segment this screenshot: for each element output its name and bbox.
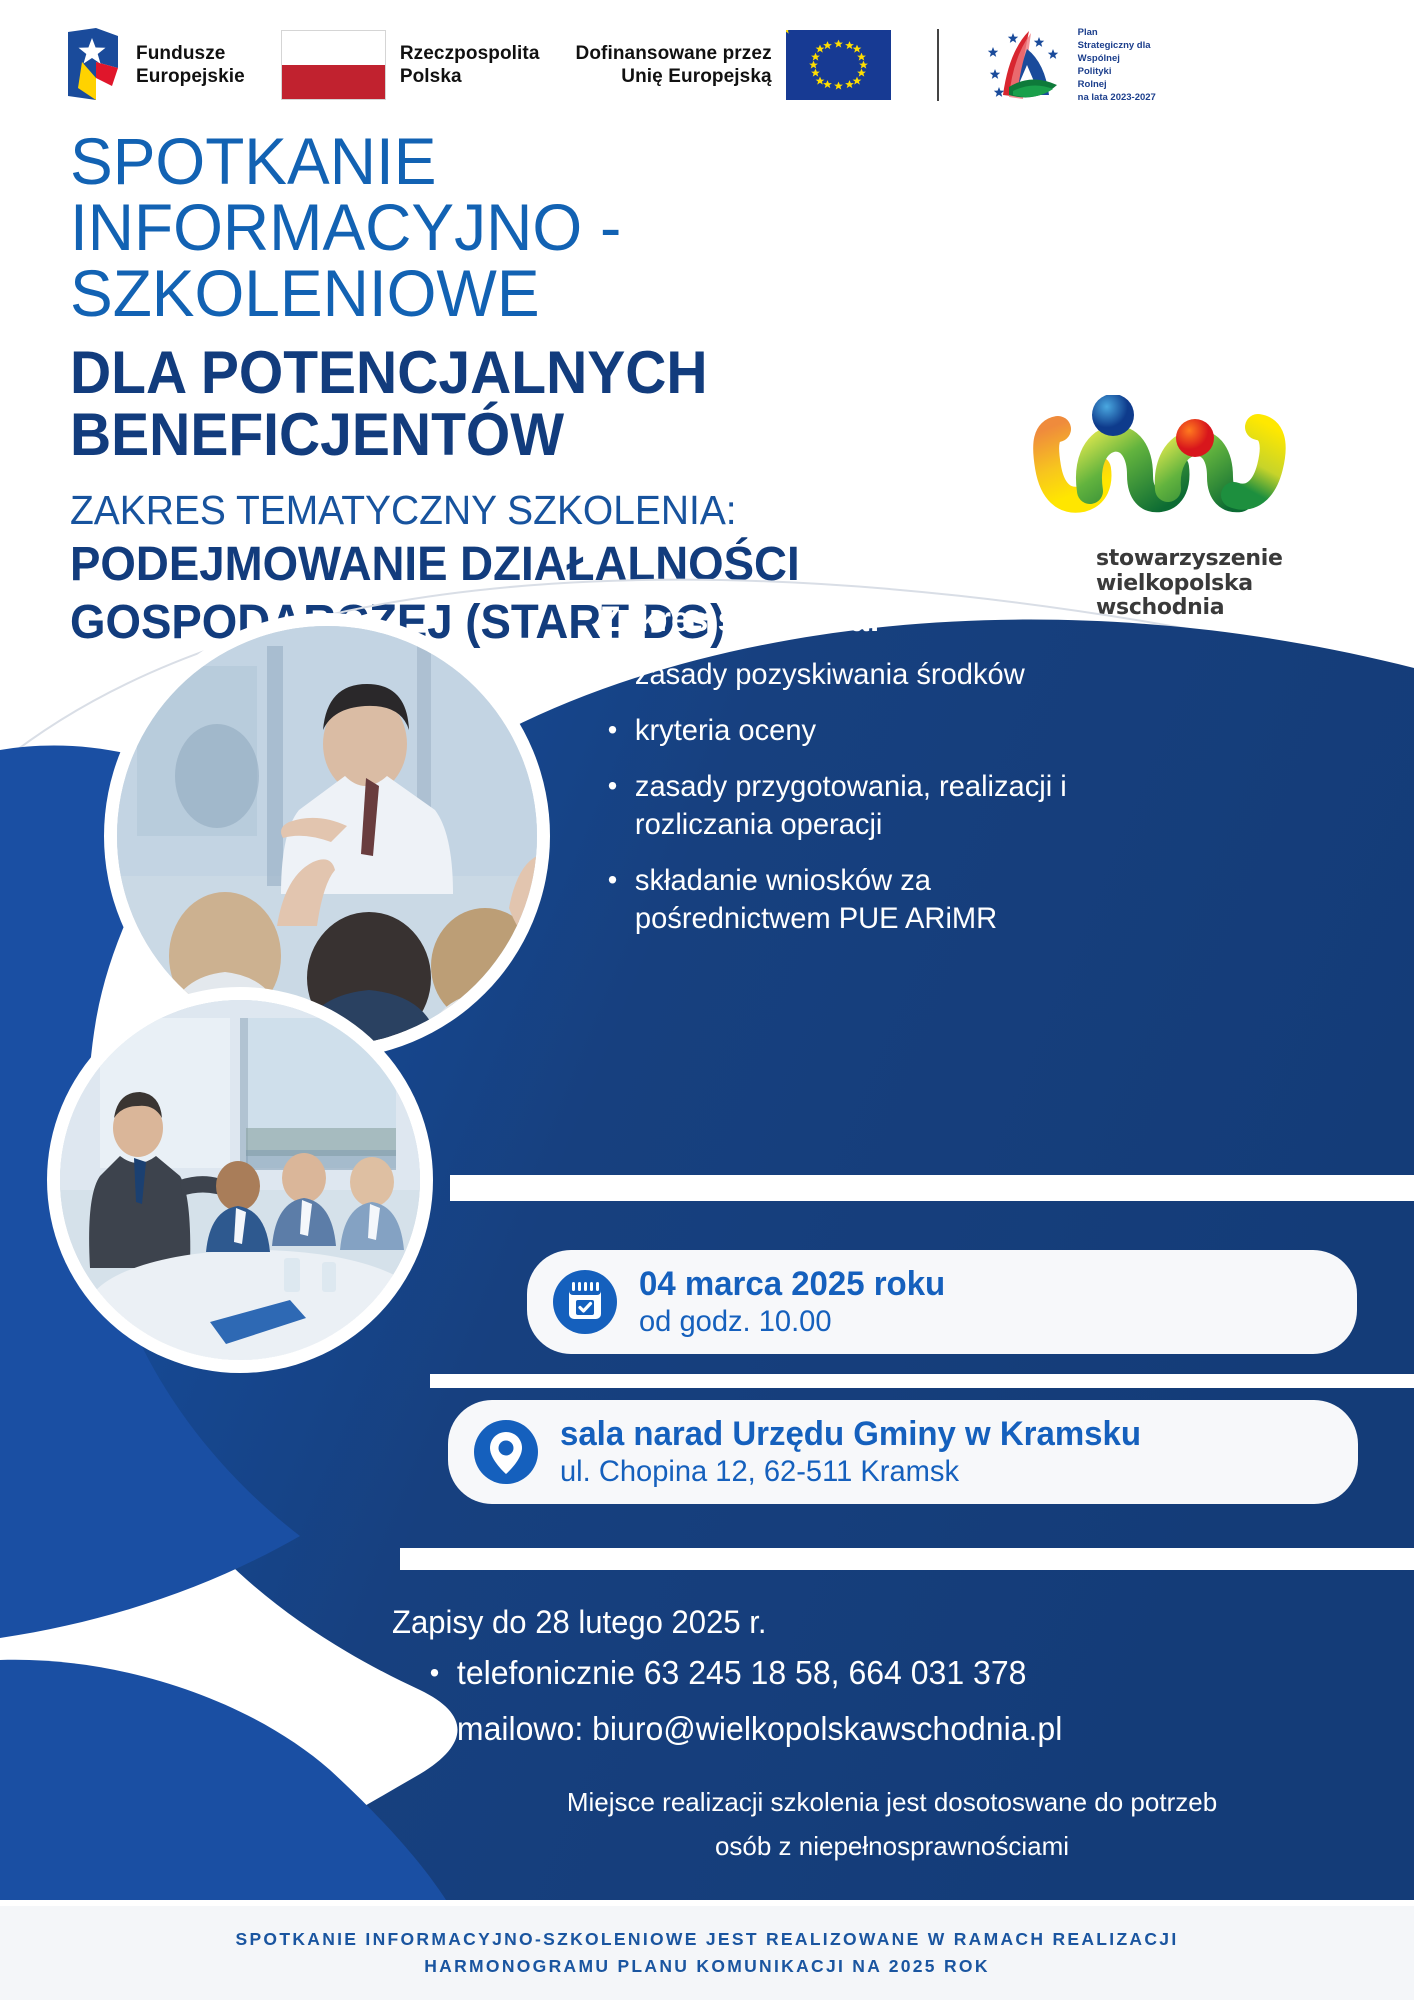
accessibility-note-line-2: osób z niepełnosprawnościami <box>392 1824 1392 1868</box>
panel-gap-band-1 <box>450 1175 1414 1201</box>
scope-heading: Zakres szkolenia: <box>600 600 1118 640</box>
poster-root: Fundusze Europejskie Rzeczpospolita Pols… <box>0 0 1414 2000</box>
poster-footer: SPOTKANIE INFORMACYJNO-SZKOLENIOWE JEST … <box>0 1906 1414 2000</box>
event-date-secondary: od godz. 10.00 <box>639 1304 945 1340</box>
plan-strategiczny-label: Plan Strategiczny dla Wspólnej Polityki … <box>1078 26 1156 105</box>
scope-item: kryteria oceny <box>600 712 1124 750</box>
plan-strategiczny-icon <box>983 25 1071 105</box>
accessibility-note: Miejsce realizacji szkolenia jest dosoto… <box>392 1780 1392 1868</box>
logo-divider <box>937 29 939 101</box>
event-date-badge: 04 marca 2025 roku od godz. 10.00 <box>527 1250 1357 1354</box>
signup-item-email[interactable]: mailowo: biuro@wielkopolskawschodnia.pl <box>422 1704 1363 1754</box>
fundusze-europejskie-icon <box>62 26 124 104</box>
fundusze-europejskie-label: Fundusze Europejskie <box>136 42 245 88</box>
eu-flag-icon <box>786 30 891 100</box>
european-union-label: Dofinansowane przez Unię Europejską <box>576 42 772 88</box>
title-line-2: INFORMACYJNO - SZKOLENIOWE <box>70 194 1098 326</box>
poland-flag-icon <box>281 30 386 100</box>
funding-logos-bar: Fundusze Europejskie Rzeczpospolita Pols… <box>0 0 1414 130</box>
photo-meeting-room <box>60 1000 420 1360</box>
event-location-primary: sala narad Urzędu Gminy w Kramsku <box>560 1414 1141 1454</box>
sww-mark-icon <box>1028 395 1358 555</box>
rzeczpospolita-polska-logo: Rzeczpospolita Polska <box>281 30 540 100</box>
title-line-3: DLA POTENCJALNYCH <box>70 342 1077 404</box>
plan-strategiczny-logo: Plan Strategiczny dla Wspólnej Polityki … <box>983 25 1156 105</box>
event-date-primary: 04 marca 2025 roku <box>639 1264 945 1304</box>
title-subheading: ZAKRES TEMATYCZNY SZKOLENIA: <box>70 484 1077 536</box>
european-union-logo: Dofinansowane przez Unię Europejską <box>576 30 891 100</box>
scope-item: zasady pozyskiwania środków <box>600 656 1124 694</box>
event-location-badge: sala narad Urzędu Gminy w Kramsku ul. Ch… <box>448 1400 1358 1504</box>
training-scope-panel: Zakres szkolenia: zasady pozyskiwania śr… <box>600 600 1140 956</box>
signup-list: telefonicznie 63 245 18 58, 664 031 378 … <box>392 1648 1392 1754</box>
event-location-secondary: ul. Chopina 12, 62-511 Kramsk <box>560 1454 1141 1490</box>
event-date-text: 04 marca 2025 roku od godz. 10.00 <box>639 1264 955 1340</box>
signup-item-phone: telefonicznie 63 245 18 58, 664 031 378 <box>422 1648 1363 1698</box>
fundusze-europejskie-logo: Fundusze Europejskie <box>62 26 245 104</box>
map-pin-icon <box>474 1420 538 1484</box>
footer-line-1: SPOTKANIE INFORMACYJNO-SZKOLENIOWE JEST … <box>235 1926 1178 1953</box>
calendar-check-icon <box>553 1270 617 1334</box>
footer-line-2: HARMONOGRAMU PLANU KOMUNIKACJI NA 2025 R… <box>424 1953 990 1980</box>
scope-item: zasady przygotowania, realizacji i rozli… <box>600 768 1124 844</box>
scope-item: składanie wniosków za pośrednictwem PUE … <box>600 862 1124 938</box>
panel-gap-band-2 <box>430 1374 1414 1388</box>
panel-gap-band-3 <box>400 1548 1414 1570</box>
scope-list: zasady pozyskiwania środków kryteria oce… <box>600 656 1140 938</box>
title-line-4: BENEFICJENTÓW <box>70 404 1077 466</box>
title-line-1: SPOTKANIE <box>70 128 1098 194</box>
event-location-text: sala narad Urzędu Gminy w Kramsku ul. Ch… <box>560 1414 1159 1490</box>
rzeczpospolita-polska-label: Rzeczpospolita Polska <box>400 42 540 88</box>
accessibility-note-line-1: Miejsce realizacji szkolenia jest dosoto… <box>392 1780 1392 1824</box>
signup-heading: Zapisy do 28 lutego 2025 r. <box>392 1600 1362 1644</box>
photo-trainer-with-audience <box>117 626 537 1046</box>
signup-panel: Zapisy do 28 lutego 2025 r. telefoniczni… <box>392 1600 1392 1760</box>
